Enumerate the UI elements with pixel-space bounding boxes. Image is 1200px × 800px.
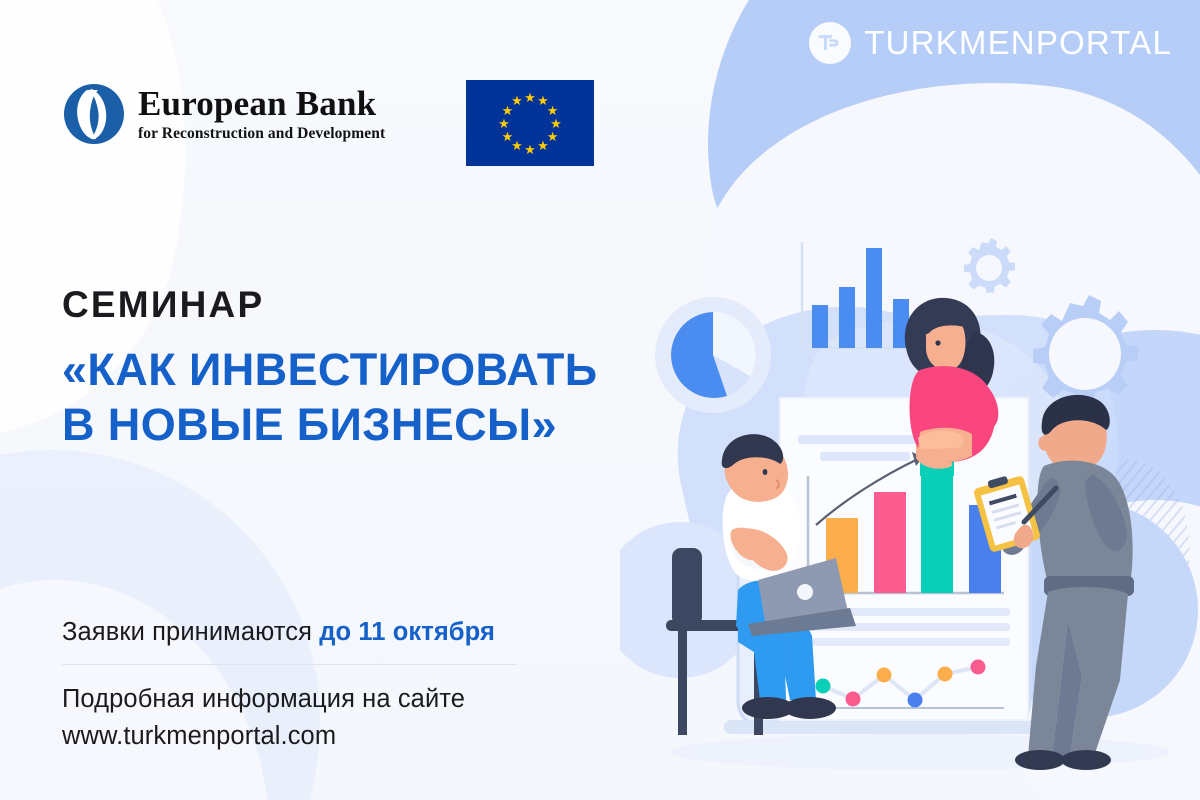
line-dot-1	[816, 679, 831, 694]
bar-3-teal	[921, 464, 953, 593]
footer-divider	[62, 664, 517, 665]
shoe-front	[784, 697, 836, 719]
seminar-banner: European Bank for Reconstruction and Dev…	[0, 0, 1200, 800]
headline-text: «КАК ИНВЕСТИРОВАТЬ В НОВЫЕ БИЗНЕСЫ»	[62, 343, 598, 453]
eu-star: ★	[501, 130, 514, 143]
info-text: Подробная информация на сайте	[62, 681, 517, 718]
line-dot-5	[938, 667, 953, 682]
ebrd-wordmark: European Bank for Reconstruction and Dev…	[138, 86, 385, 142]
ebrd-logo: European Bank for Reconstruction and Dev…	[62, 82, 385, 146]
mini-bar-2	[839, 287, 855, 348]
doc-text-line	[798, 638, 1010, 646]
eye	[763, 469, 768, 475]
gear-large-icon	[1033, 295, 1138, 406]
mini-bar-1	[812, 305, 828, 348]
bar-2-pink	[874, 492, 906, 593]
kicker-text: СЕМИНАР	[62, 286, 598, 323]
shoe-left	[1015, 750, 1065, 770]
line-dot-3	[877, 668, 892, 683]
business-analytics-illustration	[620, 180, 1200, 800]
report-document	[780, 398, 1028, 720]
headline-line-2: В НОВЫЕ БИЗНЕСЫ»	[62, 398, 598, 453]
line-dot-4	[908, 693, 923, 708]
eye	[935, 340, 940, 345]
eu-star: ★	[524, 91, 537, 104]
turkmenportal-tp-monogram-icon	[809, 22, 851, 64]
eu-star: ★	[524, 143, 537, 156]
footer-block: Заявки принимаются до 11 октября Подробн…	[62, 618, 517, 755]
turkmenportal-wordmark: TURKMENPORTAL	[864, 24, 1172, 62]
turkmenportal-logo[interactable]: TURKMENPORTAL	[809, 22, 1172, 64]
mini-bar-3	[866, 248, 882, 348]
eu-star: ★	[546, 104, 559, 117]
ebrd-title: European Bank	[138, 84, 376, 123]
headline-block: СЕМИНАР «КАК ИНВЕСТИРОВАТЬ В НОВЫЕ БИЗНЕ…	[62, 286, 598, 453]
illustration-svg	[620, 180, 1200, 800]
european-union-flag-icon: ★★★★★★★★★★★★	[466, 80, 594, 166]
deadline-prefix: Заявки принимаются	[62, 618, 319, 646]
headline-line-1: «КАК ИНВЕСТИРОВАТЬ	[62, 343, 598, 398]
gear-small-icon	[964, 238, 1015, 293]
doc-text-line	[820, 452, 910, 461]
website-url[interactable]: www.turkmenportal.com	[62, 718, 517, 755]
deadline-line: Заявки принимаются до 11 октября	[62, 618, 517, 647]
line-dot-6	[971, 660, 986, 675]
ebrd-interlocking-circles-logo-icon	[62, 82, 126, 146]
eu-star: ★	[498, 117, 511, 130]
shoe-right	[1061, 750, 1111, 770]
pie-chart	[655, 297, 771, 413]
deadline-date: до 11 октября	[319, 618, 495, 646]
eu-star: ★	[550, 117, 563, 130]
line-dot-2	[846, 692, 861, 707]
ebrd-subtitle: for Reconstruction and Development	[138, 126, 385, 142]
eu-star: ★	[537, 139, 550, 152]
eu-star: ★	[511, 94, 524, 107]
